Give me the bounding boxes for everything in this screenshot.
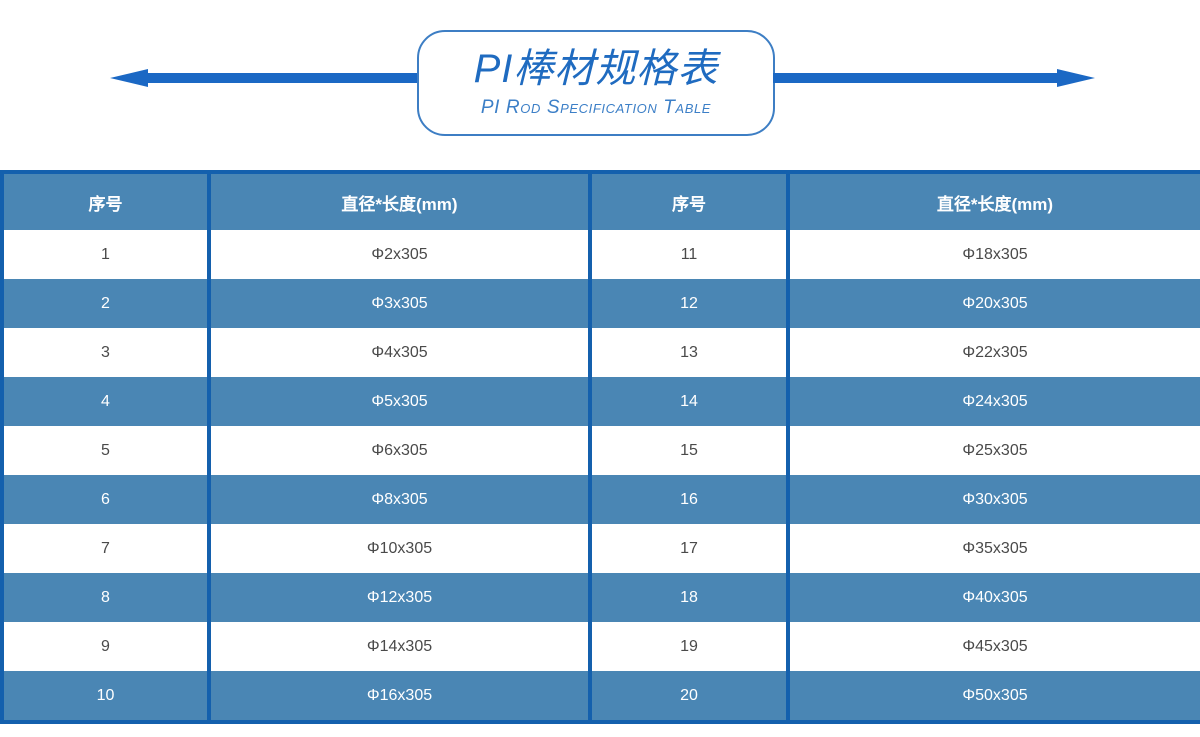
cell-spec-right: Φ50x305	[788, 671, 1200, 722]
table-row: 2 Φ3x305 12 Φ20x305	[2, 279, 1200, 328]
page-title: PI棒材规格表	[474, 48, 719, 90]
banner: PI棒材规格表 PI Rod Specification Table	[0, 0, 1200, 165]
cell-index-right: 17	[590, 524, 788, 573]
table-header: 序号 直径*长度(mm) 序号 直径*长度(mm)	[2, 172, 1200, 230]
table-row: 6 Φ8x305 16 Φ30x305	[2, 475, 1200, 524]
table-row: 8 Φ12x305 18 Φ40x305	[2, 573, 1200, 622]
table-row: 7 Φ10x305 17 Φ35x305	[2, 524, 1200, 573]
cell-index-right: 20	[590, 671, 788, 722]
cell-index-right: 12	[590, 279, 788, 328]
cell-index-left: 8	[2, 573, 209, 622]
cell-spec-right: Φ22x305	[788, 328, 1200, 377]
column-header-spec-1: 直径*长度(mm)	[209, 172, 590, 230]
cell-spec-right: Φ18x305	[788, 230, 1200, 279]
cell-spec-left: Φ2x305	[209, 230, 590, 279]
cell-spec-left: Φ12x305	[209, 573, 590, 622]
cell-spec-right: Φ45x305	[788, 622, 1200, 671]
cell-index-right: 15	[590, 426, 788, 475]
table-row: 1 Φ2x305 11 Φ18x305	[2, 230, 1200, 279]
spec-table: 序号 直径*长度(mm) 序号 直径*长度(mm) 1 Φ2x305 11 Φ1…	[0, 170, 1200, 724]
cell-index-left: 1	[2, 230, 209, 279]
cell-spec-right: Φ25x305	[788, 426, 1200, 475]
cell-spec-right: Φ30x305	[788, 475, 1200, 524]
cell-spec-left: Φ16x305	[209, 671, 590, 722]
cell-spec-left: Φ8x305	[209, 475, 590, 524]
table-row: 4 Φ5x305 14 Φ24x305	[2, 377, 1200, 426]
cell-spec-left: Φ6x305	[209, 426, 590, 475]
column-header-index-1: 序号	[2, 172, 209, 230]
cell-spec-left: Φ14x305	[209, 622, 590, 671]
column-header-index-2: 序号	[590, 172, 788, 230]
table-body: 1 Φ2x305 11 Φ18x305 2 Φ3x305 12 Φ20x305 …	[2, 230, 1200, 722]
cell-spec-left: Φ5x305	[209, 377, 590, 426]
column-header-spec-2: 直径*长度(mm)	[788, 172, 1200, 230]
cell-index-right: 16	[590, 475, 788, 524]
cell-spec-left: Φ4x305	[209, 328, 590, 377]
cell-spec-right: Φ24x305	[788, 377, 1200, 426]
table-row: 10 Φ16x305 20 Φ50x305	[2, 671, 1200, 722]
table-row: 5 Φ6x305 15 Φ25x305	[2, 426, 1200, 475]
cell-index-left: 5	[2, 426, 209, 475]
cell-spec-left: Φ10x305	[209, 524, 590, 573]
cell-spec-right: Φ20x305	[788, 279, 1200, 328]
cell-index-left: 6	[2, 475, 209, 524]
cell-spec-left: Φ3x305	[209, 279, 590, 328]
cell-index-left: 9	[2, 622, 209, 671]
cell-index-right: 11	[590, 230, 788, 279]
cell-index-right: 18	[590, 573, 788, 622]
cell-index-right: 19	[590, 622, 788, 671]
table-header-row: 序号 直径*长度(mm) 序号 直径*长度(mm)	[2, 172, 1200, 230]
cell-index-right: 13	[590, 328, 788, 377]
title-box: PI棒材规格表 PI Rod Specification Table	[417, 30, 775, 136]
cell-spec-right: Φ35x305	[788, 524, 1200, 573]
table-row: 9 Φ14x305 19 Φ45x305	[2, 622, 1200, 671]
page-subtitle: PI Rod Specification Table	[481, 97, 711, 119]
cell-index-right: 14	[590, 377, 788, 426]
cell-spec-right: Φ40x305	[788, 573, 1200, 622]
cell-index-left: 4	[2, 377, 209, 426]
arrow-right-icon	[773, 69, 1095, 87]
arrow-left-icon	[110, 69, 430, 87]
table-row: 3 Φ4x305 13 Φ22x305	[2, 328, 1200, 377]
spec-table-container: 序号 直径*长度(mm) 序号 直径*长度(mm) 1 Φ2x305 11 Φ1…	[0, 170, 1200, 724]
cell-index-left: 2	[2, 279, 209, 328]
cell-index-left: 3	[2, 328, 209, 377]
cell-index-left: 7	[2, 524, 209, 573]
cell-index-left: 10	[2, 671, 209, 722]
